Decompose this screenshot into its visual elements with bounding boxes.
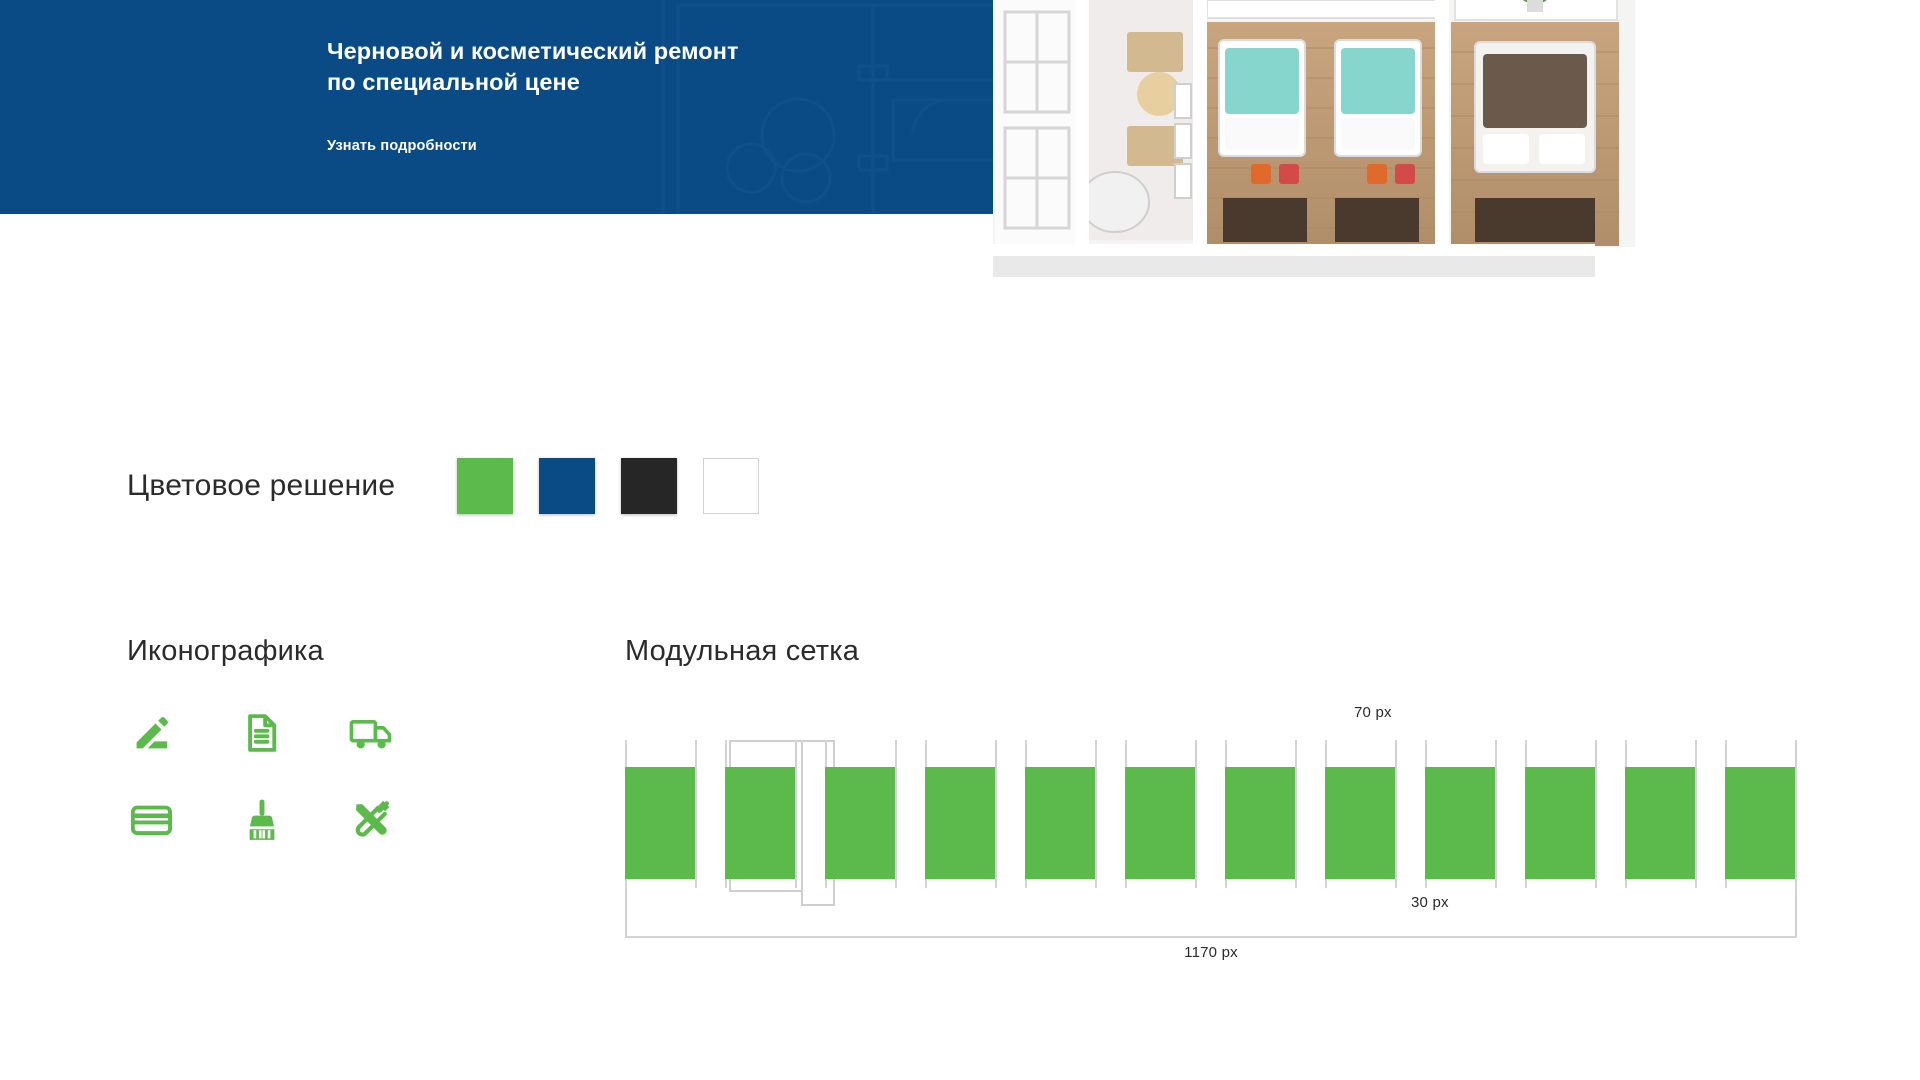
grid-guide-line	[1495, 740, 1497, 888]
icon-grid	[127, 708, 487, 845]
grid-column	[1625, 767, 1695, 879]
color-swatch-row	[457, 458, 785, 514]
grid-guide-line	[1195, 740, 1197, 888]
grid-column	[1125, 767, 1195, 879]
grid-column	[1525, 767, 1595, 879]
grid-guide-line	[1295, 740, 1297, 888]
grid-baseline	[625, 936, 1797, 938]
color-swatch-white[interactable]	[703, 458, 759, 514]
iconography-section: Иконографика	[127, 635, 487, 845]
grid-guide-line	[1395, 740, 1397, 888]
grid-column-width-label: 70 px	[1354, 704, 1392, 721]
icons-heading: Иконографика	[127, 635, 487, 668]
grid-guide-line	[1795, 740, 1797, 936]
delivery-truck-icon[interactable]	[347, 708, 397, 758]
color-palette-section: Цветовое решение	[127, 458, 785, 514]
grid-column	[1225, 767, 1295, 879]
grid-guide-line	[995, 740, 997, 888]
grid-column	[825, 767, 895, 879]
colors-heading: Цветовое решение	[127, 469, 395, 503]
grid-column	[1325, 767, 1395, 879]
broom-icon[interactable]	[237, 795, 287, 845]
grid-columns-layer	[625, 740, 1797, 936]
banner-title: Черновой и косметический ремонт по специ…	[327, 36, 847, 99]
grid-guide-line	[795, 740, 797, 888]
tools-icon[interactable]	[347, 795, 397, 845]
grid-diagram: 70 px 30 px 1170 px	[625, 704, 1797, 939]
credit-card-icon[interactable]	[127, 795, 177, 845]
grid-guide-line	[895, 740, 897, 888]
grid-total-width-label: 1170 px	[625, 944, 1797, 961]
modular-grid-section: Модульная сетка 70 px 30 px 1170 px	[625, 635, 1797, 939]
grid-guide-line	[695, 740, 697, 888]
grid-guide-line	[1695, 740, 1697, 888]
grid-column	[1425, 767, 1495, 879]
color-swatch-blue[interactable]	[539, 458, 595, 514]
banner-text-block: Черновой и косметический ремонт по специ…	[327, 36, 847, 155]
grid-guide-line	[1095, 740, 1097, 888]
grid-heading: Модульная сетка	[625, 635, 1797, 668]
pencil-icon[interactable]	[127, 708, 177, 758]
document-icon[interactable]	[237, 708, 287, 758]
banner-details-link[interactable]: Узнать подробности	[327, 138, 477, 154]
grid-guide-line	[1595, 740, 1597, 888]
grid-column	[1025, 767, 1095, 879]
grid-column	[725, 767, 795, 879]
floorplan-render-image	[975, 0, 1655, 297]
grid-column	[1725, 767, 1795, 879]
grid-column	[925, 767, 995, 879]
color-swatch-green[interactable]	[457, 458, 513, 514]
color-swatch-charcoal[interactable]	[621, 458, 677, 514]
grid-column	[625, 767, 695, 879]
